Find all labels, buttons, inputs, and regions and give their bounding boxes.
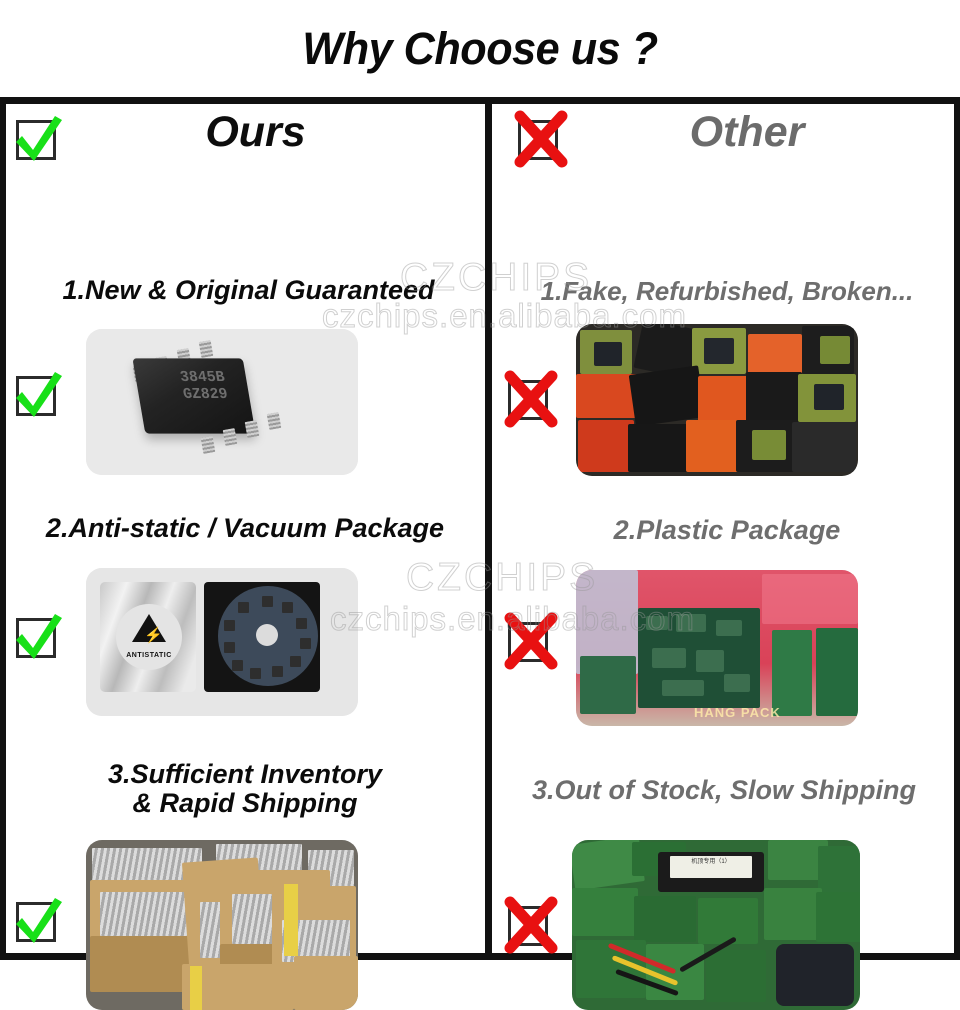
plastic-photo-overlay-text: HANG PACK: [694, 705, 781, 720]
sop8-chip-photo: 3845B GZ829: [86, 329, 358, 475]
chip-marking: 3845B GZ829: [152, 369, 256, 404]
other-row-2-label: 2.Plastic Package: [502, 516, 952, 545]
ours-row-1-label: 1.New & Original Guaranteed: [16, 276, 481, 305]
check-mark-row-2: [10, 610, 66, 666]
title-bar: Why Choose us ?: [0, 0, 960, 97]
other-header: Other: [492, 104, 954, 182]
antistatic-bag-label: ANTISTATIC: [119, 652, 179, 659]
other-row-3-label: 3.Out of Stock, Slow Shipping: [494, 776, 954, 805]
column-divider: [485, 104, 492, 960]
other-row-1-label: 1.Fake, Refurbished, Broken...: [502, 278, 952, 306]
why-choose-us-infographic: Why Choose us ? Ours 1.New & Original Gu…: [0, 0, 960, 960]
chip-marking-line-2: GZ829: [155, 386, 256, 404]
cross-mark-row-3: [502, 898, 558, 954]
frame-top-rule: [0, 97, 960, 104]
cross-mark-row-2: [502, 614, 558, 670]
cross-mark-icon: [502, 372, 558, 428]
page-title: Why Choose us ?: [302, 23, 657, 75]
antistatic-bag-and-reel-photo: ⚡ ANTISTATIC: [86, 568, 358, 716]
plastic-bag-pcb-photo: HANG PACK: [576, 570, 858, 726]
check-mark-row-1: [10, 368, 66, 424]
cross-mark-row-1: [502, 372, 558, 428]
ours-row-3-label: 3.Sufficient Inventory & Rapid Shipping: [10, 760, 480, 817]
frame-right-rule: [954, 97, 960, 960]
cross-mark-icon: [502, 614, 558, 670]
check-mark-icon: [10, 894, 66, 950]
ours-heading: Ours: [16, 108, 495, 157]
check-mark-icon: [10, 610, 66, 666]
scrap-chips-pile-photo: [576, 324, 858, 476]
column-ours: Ours 1.New & Original Guaranteed: [6, 104, 485, 960]
check-mark-row-3: [10, 894, 66, 950]
ewaste-pcb-pile-photo: 机顶专用（1）: [572, 840, 860, 1010]
column-other: Other 1.Fake, Refurbished, Broken...: [492, 104, 954, 960]
stocked-cartons-photo: [86, 840, 358, 1010]
ours-row-2-label: 2.Anti-static / Vacuum Package: [10, 514, 480, 543]
chip-marking-line-1: 3845B: [152, 369, 253, 387]
check-mark-icon: [10, 368, 66, 424]
cross-mark-icon: [502, 898, 558, 954]
ours-header: Ours: [6, 104, 485, 182]
other-heading: Other: [516, 108, 960, 157]
ewaste-module-label: 机顶专用（1）: [670, 856, 752, 878]
